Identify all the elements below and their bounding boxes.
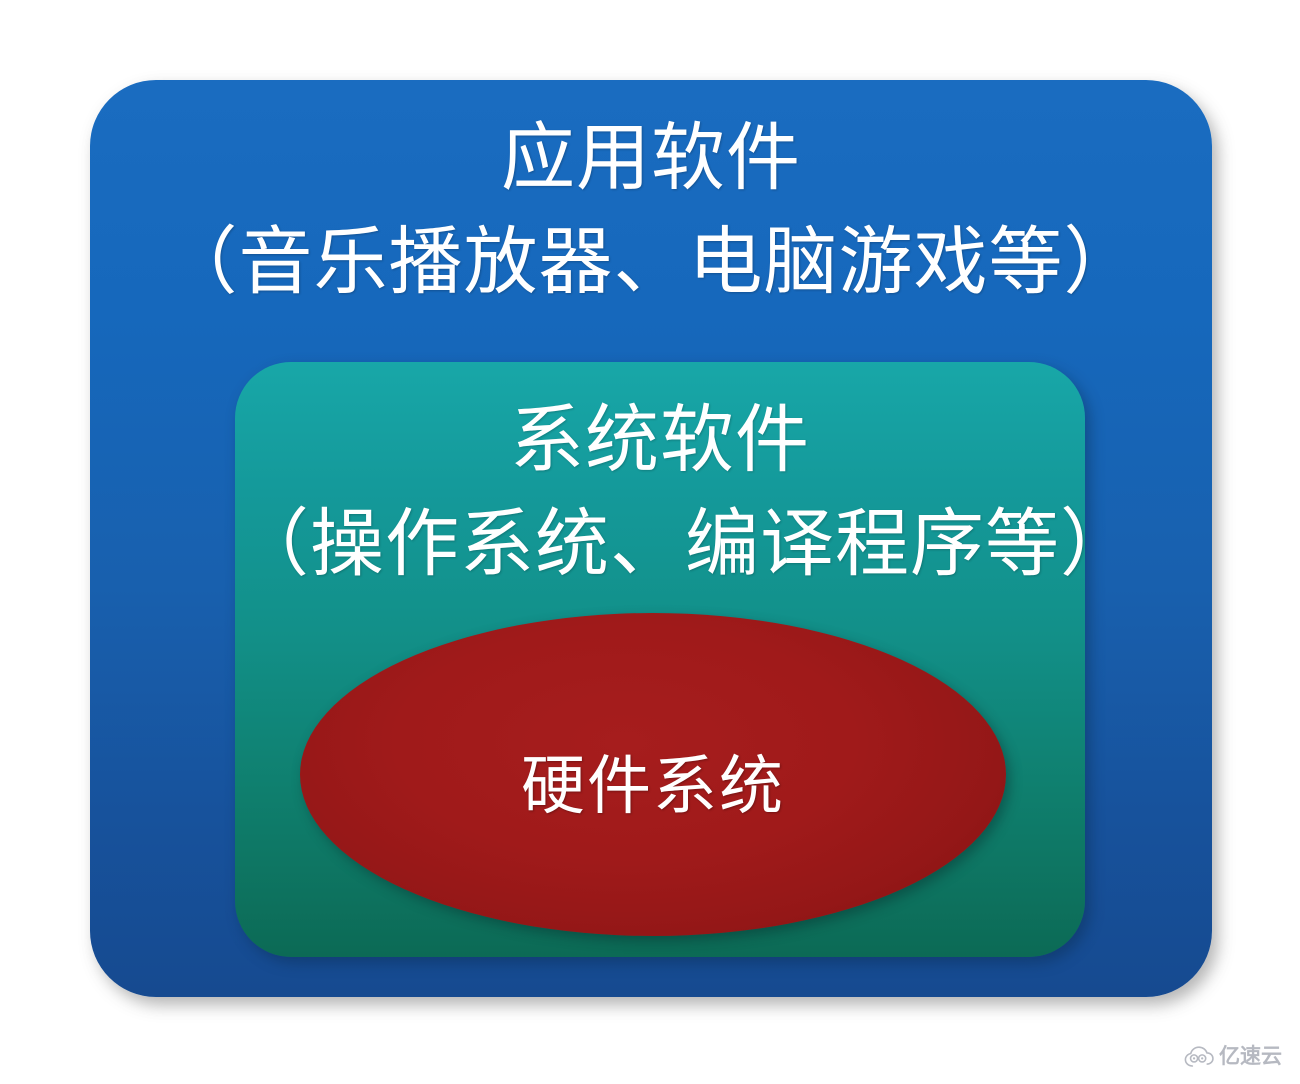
application-software-label-group: 应用软件 （音乐播放器、电脑游戏等） (90, 106, 1212, 314)
diagram-canvas: 应用软件 （音乐播放器、电脑游戏等） 系统软件 （操作系统、编译程序等） 硬件系… (0, 0, 1300, 1084)
layer-application-software: 应用软件 （音乐播放器、电脑游戏等） 系统软件 （操作系统、编译程序等） 硬件系… (90, 80, 1212, 997)
system-software-detail: （操作系统、编译程序等） (235, 492, 1085, 596)
cloud-icon (1184, 1046, 1214, 1068)
system-software-heading: 系统软件 (235, 388, 1085, 492)
watermark-text: 亿速云 (1219, 1046, 1282, 1068)
application-software-heading: 应用软件 (90, 106, 1212, 210)
hardware-system-heading: 硬件系统 (521, 750, 785, 822)
watermark: 亿速云 (1184, 1046, 1282, 1068)
system-software-label-group: 系统软件 （操作系统、编译程序等） (235, 388, 1085, 596)
layer-system-software: 系统软件 （操作系统、编译程序等） 硬件系统 (235, 362, 1085, 957)
application-software-detail: （音乐播放器、电脑游戏等） (90, 210, 1212, 314)
layer-hardware-system: 硬件系统 (300, 613, 1006, 936)
